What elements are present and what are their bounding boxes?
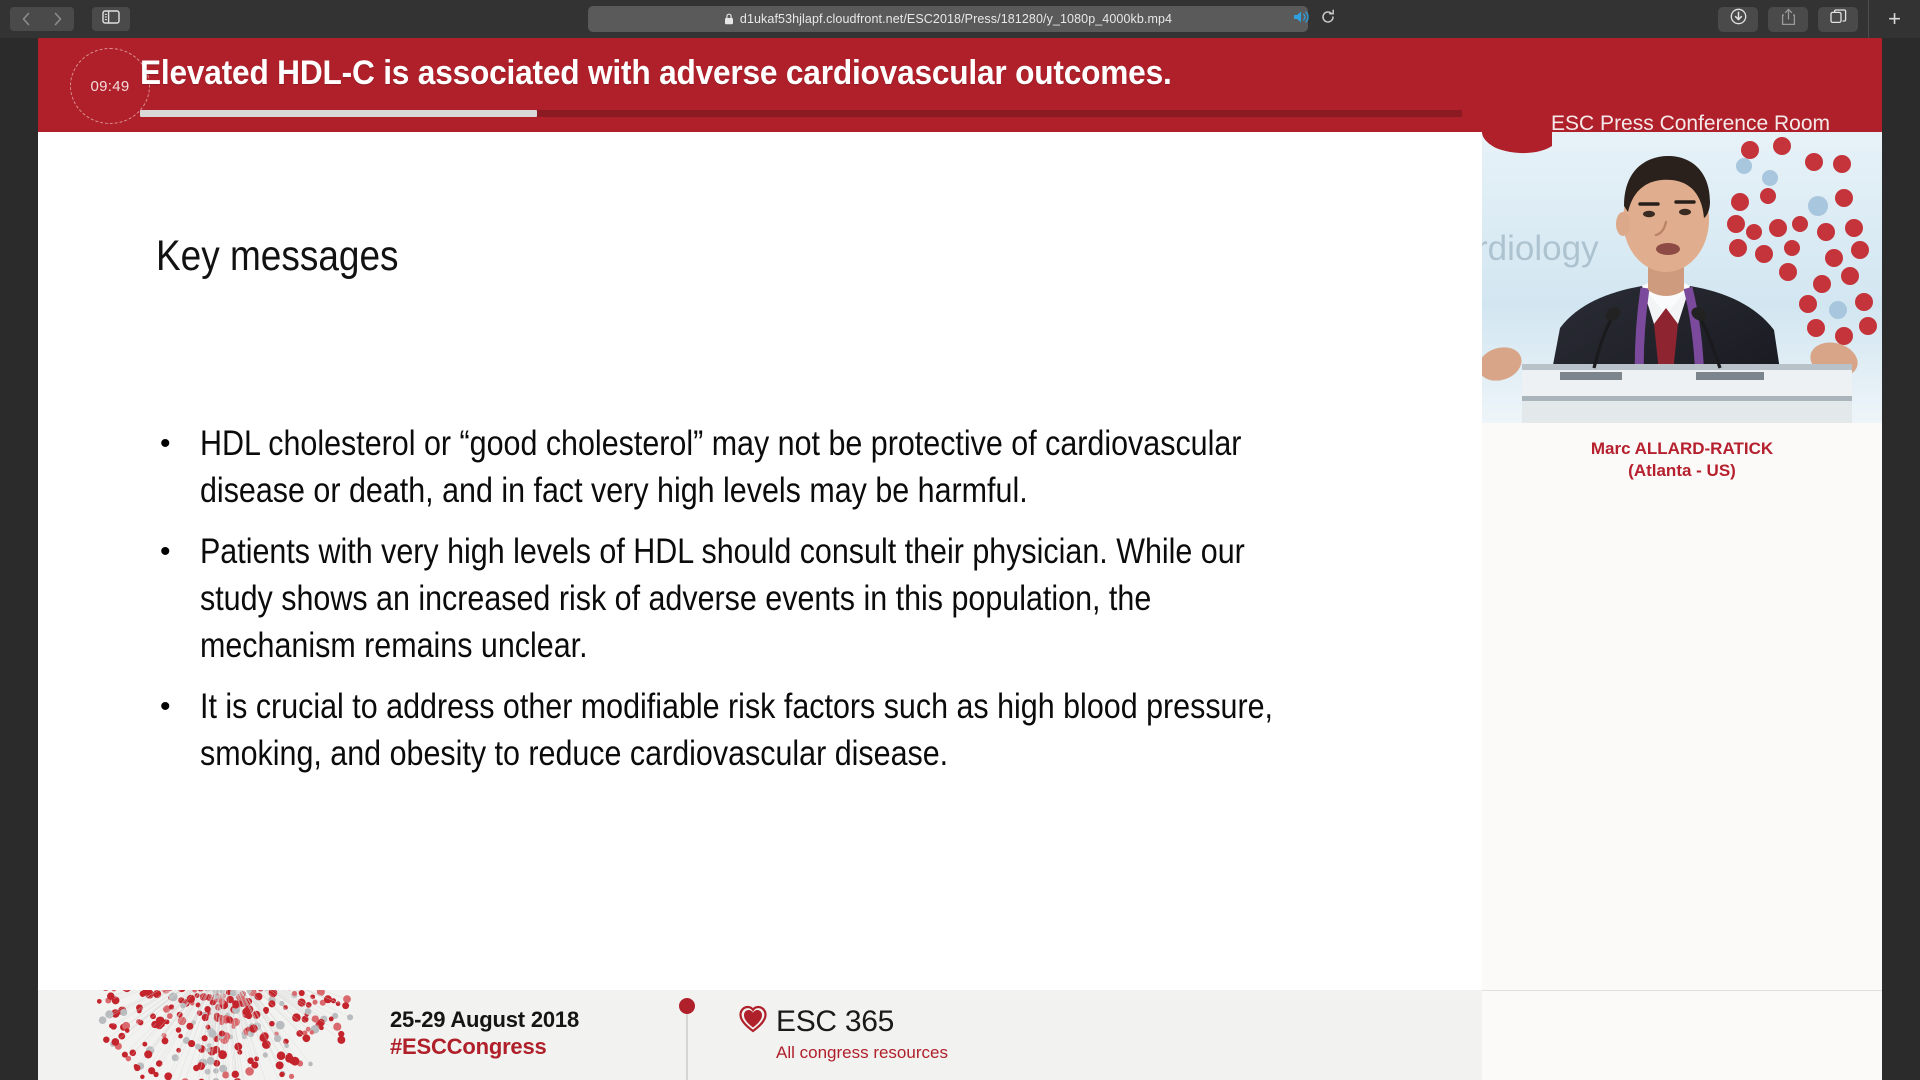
new-tab-button[interactable]: +	[1868, 0, 1920, 38]
network-dots-graphic	[74, 990, 374, 1080]
slide-bullet-list: •HDL cholesterol or “good cholesterol” m…	[156, 420, 1446, 791]
share-icon	[1781, 8, 1796, 31]
bullet-marker-icon: •	[156, 528, 200, 575]
speaker-volume-icon[interactable]	[1292, 9, 1312, 30]
congress-dates: 25-29 August 2018	[390, 1006, 579, 1033]
slide-bullet-text: Patients with very high levels of HDL sh…	[200, 528, 1284, 669]
slide-progress-fill	[140, 110, 537, 117]
slide-bullet-text: HDL cholesterol or “good cholesterol” ma…	[200, 420, 1284, 514]
slide-bullet-item: •Patients with very high levels of HDL s…	[156, 528, 1446, 669]
slide-footer: 25-29 August 2018 #ESCCongress ESC 365 A…	[38, 990, 1482, 1080]
svg-text:rdiology: rdiology	[1482, 229, 1599, 268]
speaker-panel: rdiology	[1482, 132, 1882, 1080]
browser-tools-group: +	[1718, 0, 1920, 38]
slide-heading: Key messages	[156, 232, 399, 281]
download-button[interactable]	[1718, 7, 1758, 32]
reload-icon[interactable]	[1320, 9, 1336, 30]
speaker-video-frame: rdiology	[1482, 132, 1882, 423]
forward-button[interactable]	[42, 7, 74, 31]
speaker-panel-divider	[1482, 990, 1882, 991]
session-timer-value: 09:49	[90, 78, 129, 95]
sidebar-toggle-icon	[102, 10, 120, 29]
slide-progress-track[interactable]	[140, 110, 1462, 117]
address-bar-url: d1ukaf53hjlapf.cloudfront.net/ESC2018/Pr…	[740, 12, 1172, 26]
speaker-location: (Atlanta - US)	[1482, 460, 1882, 482]
tab-overview-icon	[1830, 9, 1847, 30]
share-button[interactable]	[1768, 7, 1808, 32]
speaker-name: Marc ALLARD-RATICK	[1482, 438, 1882, 460]
video-player-stage[interactable]: 09:49 Elevated HDL-C is associated with …	[38, 38, 1882, 1080]
address-bar[interactable]: d1ukaf53hjlapf.cloudfront.net/ESC2018/Pr…	[588, 6, 1308, 32]
slide-header-bar: 09:49 Elevated HDL-C is associated with …	[38, 38, 1882, 132]
esc365-label: ESC 365	[776, 1005, 894, 1039]
tab-overview-button[interactable]	[1818, 7, 1858, 32]
congress-dates-block: 25-29 August 2018 #ESCCongress	[390, 1006, 579, 1060]
slide-bullet-item: •HDL cholesterol or “good cholesterol” m…	[156, 420, 1446, 514]
sidebar-toggle-button[interactable]	[92, 7, 130, 31]
slide-content: Key messages •HDL cholesterol or “good c…	[38, 132, 1482, 990]
esc365-block[interactable]: ESC 365 All congress resources	[738, 1004, 948, 1063]
bullet-marker-icon: •	[156, 420, 200, 467]
browser-nav-group	[0, 7, 130, 31]
back-button[interactable]	[10, 7, 42, 31]
download-icon	[1730, 8, 1747, 30]
congress-hashtag: #ESCCongress	[390, 1033, 579, 1060]
chevron-right-icon	[53, 12, 63, 26]
esc365-subtitle: All congress resources	[776, 1043, 948, 1063]
esc-heart-logo-icon	[738, 1004, 768, 1039]
bullet-marker-icon: •	[156, 683, 200, 730]
browser-toolbar: d1ukaf53hjlapf.cloudfront.net/ESC2018/Pr…	[0, 0, 1920, 38]
chevron-left-icon	[21, 12, 31, 26]
address-bar-actions	[1292, 6, 1358, 32]
slide-bullet-item: • It is crucial to address other modifia…	[156, 683, 1446, 777]
footer-divider	[686, 1004, 688, 1080]
slide-bullet-text: It is crucial to address other modifiabl…	[200, 683, 1284, 777]
slide-title: Elevated HDL-C is associated with advers…	[140, 54, 1172, 93]
lock-icon	[724, 13, 734, 25]
session-timer: 09:49	[70, 48, 150, 124]
footer-divider-dot	[679, 998, 695, 1014]
